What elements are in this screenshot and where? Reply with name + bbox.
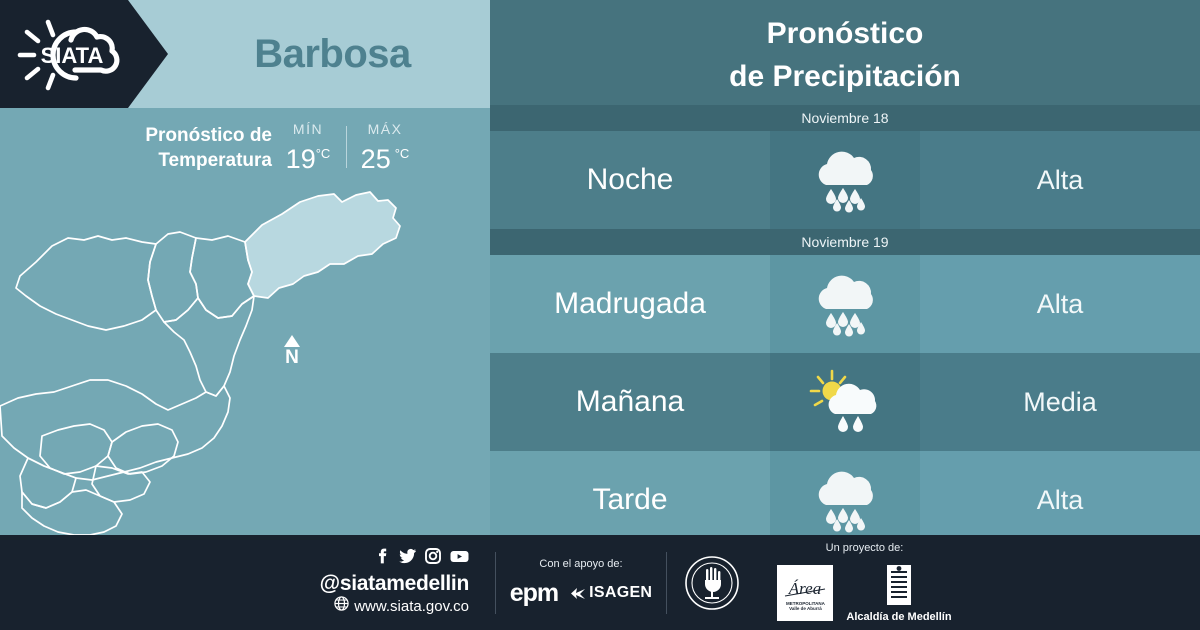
rain-cloud-icon xyxy=(770,131,920,229)
sun-rain-cloud-icon xyxy=(770,353,920,451)
temperature-header: Pronóstico de Temperatura MÍN 19°C MÁX 2… xyxy=(0,108,490,186)
temperature-max: MÁX 25°C xyxy=(355,120,415,175)
map-region-barbosa xyxy=(245,192,400,298)
map-region-bello xyxy=(16,236,156,330)
forecast-probability-label: Alta xyxy=(1037,485,1084,516)
isagen-mark xyxy=(571,587,586,600)
forecast-probability-label: Media xyxy=(1023,387,1097,418)
footer: @siatamedellin www.siata.gov.co Con el a… xyxy=(0,535,1200,630)
map-region-girardota xyxy=(190,236,254,318)
temperature-panel: Barbosa SIATA Pro xyxy=(0,0,490,535)
map-region-medellin-north xyxy=(164,296,254,396)
forecast-title-line2: de Precipitación xyxy=(490,55,1200,98)
temperature-title-line1: Pronóstico de xyxy=(82,123,272,148)
temperature-min-value-group: 19°C xyxy=(278,138,338,175)
temperature-max-label: MÁX xyxy=(355,120,415,138)
amva-script-mark: Área xyxy=(781,575,829,601)
forecast-period-label: Tarde xyxy=(592,483,667,517)
temperature-max-value-group: 25°C xyxy=(355,138,415,175)
temperature-title-line2: Temperatura xyxy=(82,148,272,173)
amva-subtitle-2: Valle de Aburrá xyxy=(789,606,822,611)
forecast-title: Pronóstico de Precipitación xyxy=(490,12,1200,98)
temperature-values: MÍN 19°C MÁX 25°C xyxy=(278,120,415,175)
sun-cloud-icon: SIATA xyxy=(14,16,134,99)
forecast-probability-cell: Media xyxy=(920,353,1200,451)
aburra-valley-map: N xyxy=(0,180,490,535)
area-metropolitana-logo: Área METROPOLITANA Valle de Aburrá xyxy=(777,565,833,621)
isagen-logo: ISAGEN xyxy=(571,584,652,602)
rain-cloud-icon xyxy=(770,255,920,353)
youtube-icon[interactable] xyxy=(450,548,469,569)
footer-project: Un proyecto de: Área METROPOLITANA Valle… xyxy=(757,535,972,630)
weather-forecast-poster: Barbosa SIATA Pro xyxy=(0,0,1200,630)
social-handle[interactable]: @siatamedellin xyxy=(0,572,469,596)
alcaldia-logo: Alcaldía de Medellín xyxy=(846,563,951,623)
support-logos: epm ISAGEN xyxy=(510,579,653,608)
forecast-date-band: Noviembre 18 xyxy=(490,105,1200,131)
north-label: N xyxy=(285,347,299,368)
map-region-caldas xyxy=(22,490,122,535)
footer-social: @siatamedellin www.siata.gov.co xyxy=(0,548,495,617)
temperature-min: MÍN 19°C xyxy=(278,120,338,175)
support-caption: Con el apoyo de: xyxy=(539,558,622,570)
temperature-title: Pronóstico de Temperatura xyxy=(82,123,272,173)
isagen-wordmark: ISAGEN xyxy=(589,584,652,602)
alcaldia-name: Alcaldía de Medellín xyxy=(846,611,951,623)
forecast-row[interactable]: Madrugada xyxy=(490,255,1200,353)
temperature-min-label: MÍN xyxy=(278,120,338,138)
footer-support: Con el apoyo de: epm ISAGEN xyxy=(496,535,666,630)
temperature-min-unit: °C xyxy=(316,146,331,161)
forecast-period-label: Mañana xyxy=(576,385,684,419)
temperature-max-unit: °C xyxy=(395,146,410,161)
forecast-probability-cell: Alta xyxy=(920,131,1200,229)
city-name: Barbosa xyxy=(175,0,490,108)
social-icons xyxy=(0,548,469,569)
website-url: www.siata.gov.co xyxy=(354,597,469,617)
globe-icon xyxy=(334,596,349,617)
universidad-de-medellin-seal xyxy=(684,555,740,611)
north-arrow: N xyxy=(275,335,309,368)
forecast-period-label: Noche xyxy=(587,163,674,197)
forecast-row[interactable]: Mañana xyxy=(490,353,1200,451)
alcaldia-crest-icon xyxy=(882,563,916,607)
forecast-period-cell: Madrugada xyxy=(490,255,770,353)
facebook-icon[interactable] xyxy=(374,548,390,569)
forecast-date-band: Noviembre 19 xyxy=(490,229,1200,255)
north-arrow-icon xyxy=(284,335,300,347)
university-seal xyxy=(667,535,757,630)
epm-logo: epm xyxy=(510,579,558,608)
temperature-max-value: 25 xyxy=(361,144,391,174)
forecast-period-label: Madrugada xyxy=(554,287,706,321)
forecast-rows: Noviembre 18 Noche xyxy=(490,105,1200,549)
project-caption: Un proyecto de: xyxy=(826,542,904,554)
siata-wordmark: SIATA xyxy=(41,43,104,68)
forecast-period-cell: Mañana xyxy=(490,353,770,451)
precipitation-panel: Pronóstico de Precipitación Noviembre 18… xyxy=(490,0,1200,535)
twitter-icon[interactable] xyxy=(399,548,416,569)
forecast-row[interactable]: Noche xyxy=(490,131,1200,229)
temperature-divider xyxy=(346,126,347,168)
temperature-min-value: 19 xyxy=(286,144,316,174)
forecast-probability-label: Alta xyxy=(1037,289,1084,320)
forecast-probability-cell: Alta xyxy=(920,255,1200,353)
forecast-period-cell: Noche xyxy=(490,131,770,229)
project-logos: Área METROPOLITANA Valle de Aburrá xyxy=(777,563,951,623)
forecast-probability-label: Alta xyxy=(1037,165,1084,196)
website-line[interactable]: www.siata.gov.co xyxy=(0,596,469,617)
forecast-title-line1: Pronóstico xyxy=(490,12,1200,55)
instagram-icon[interactable] xyxy=(425,548,441,569)
